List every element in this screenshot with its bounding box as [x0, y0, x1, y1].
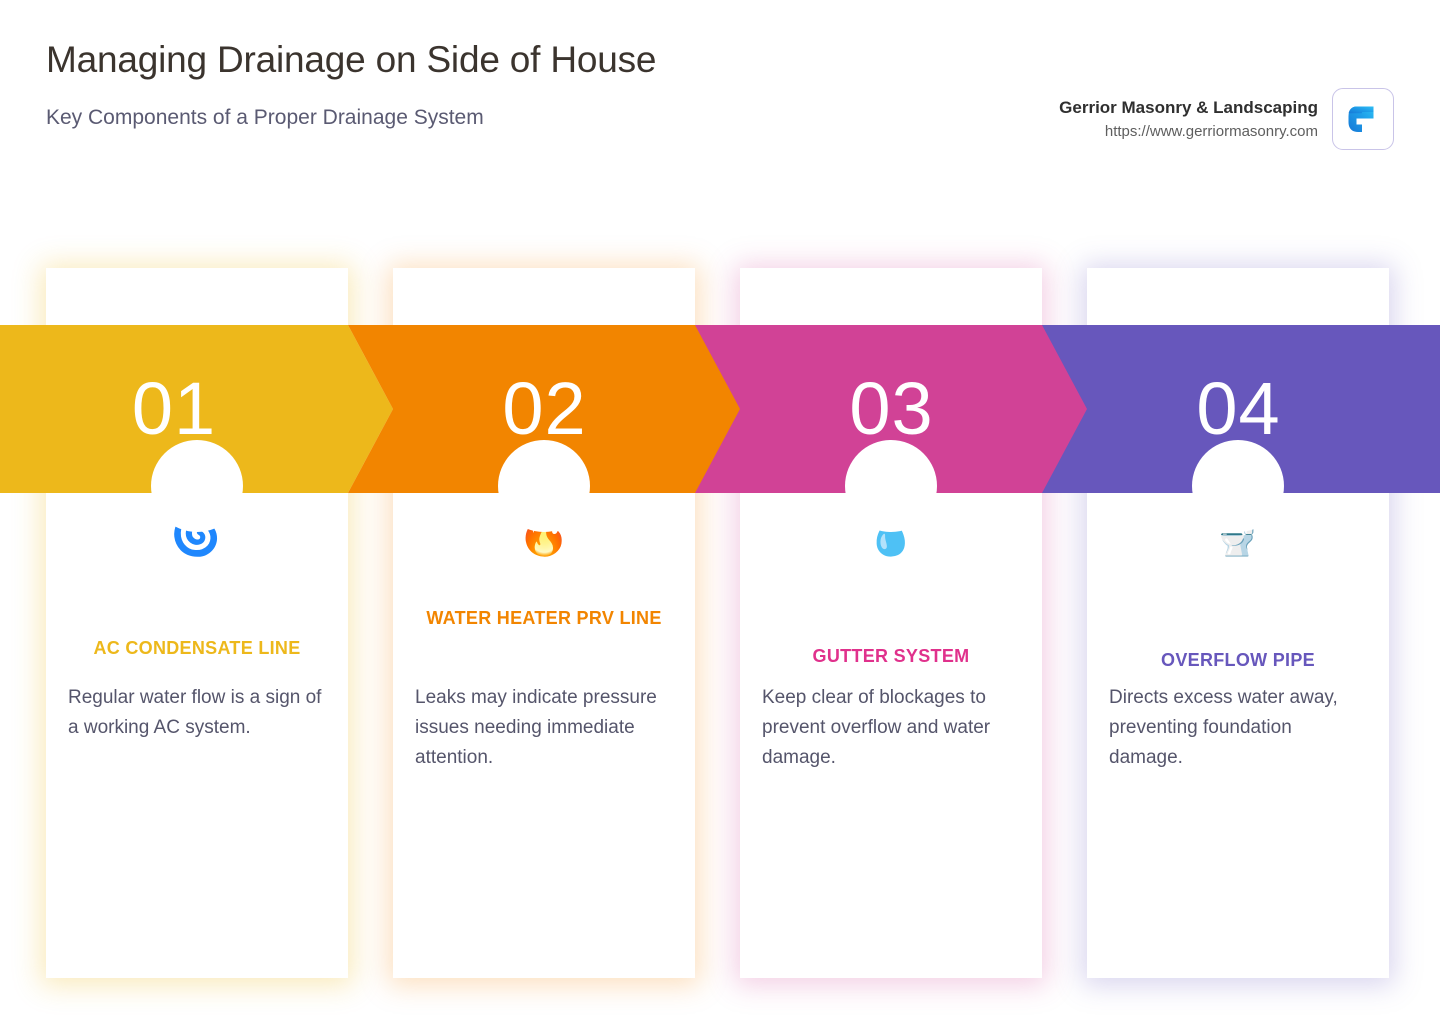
step-card-3-description: Keep clear of blockages to prevent overf…: [762, 683, 1020, 773]
header: Managing Drainage on Side of House Key C…: [0, 0, 1440, 240]
icon-notch-2: [498, 440, 590, 532]
brand-logo: [1332, 88, 1394, 150]
icon-notch-3: [845, 440, 937, 532]
step-card-4-description: Directs excess water away, preventing fo…: [1109, 683, 1367, 773]
page-subtitle: Key Components of a Proper Drainage Syst…: [46, 104, 666, 132]
step-card-2-title: WATER HEATER PRV LINE: [407, 603, 681, 633]
infographic-page: Managing Drainage on Side of House Key C…: [0, 0, 1440, 1024]
icon-notch-4: [1192, 440, 1284, 532]
icon-notch-1: [151, 440, 243, 532]
title-block: Managing Drainage on Side of House Key C…: [46, 34, 666, 132]
step-number-2: 02: [393, 372, 696, 446]
page-title: Managing Drainage on Side of House: [46, 34, 666, 85]
step-card-1-title: AC CONDENSATE LINE: [60, 633, 334, 663]
step-card-1-description: Regular water flow is a sign of a workin…: [68, 683, 326, 743]
step-card-2-description: Leaks may indicate pressure issues needi…: [415, 683, 673, 773]
brand-block: Gerrior Masonry & Landscaping https://ww…: [1059, 88, 1394, 150]
brand-text: Gerrior Masonry & Landscaping https://ww…: [1059, 96, 1318, 143]
step-number-4: 04: [1087, 372, 1390, 446]
logo-g-icon: [1343, 99, 1383, 139]
step-number-3: 03: [740, 372, 1043, 446]
step-card-4-title: OVERFLOW PIPE: [1101, 645, 1375, 675]
step-number-1: 01: [0, 372, 348, 446]
brand-url[interactable]: https://www.gerriormasonry.com: [1059, 120, 1318, 143]
step-card-3-title: GUTTER SYSTEM: [754, 641, 1028, 671]
brand-name: Gerrior Masonry & Landscaping: [1059, 96, 1318, 120]
